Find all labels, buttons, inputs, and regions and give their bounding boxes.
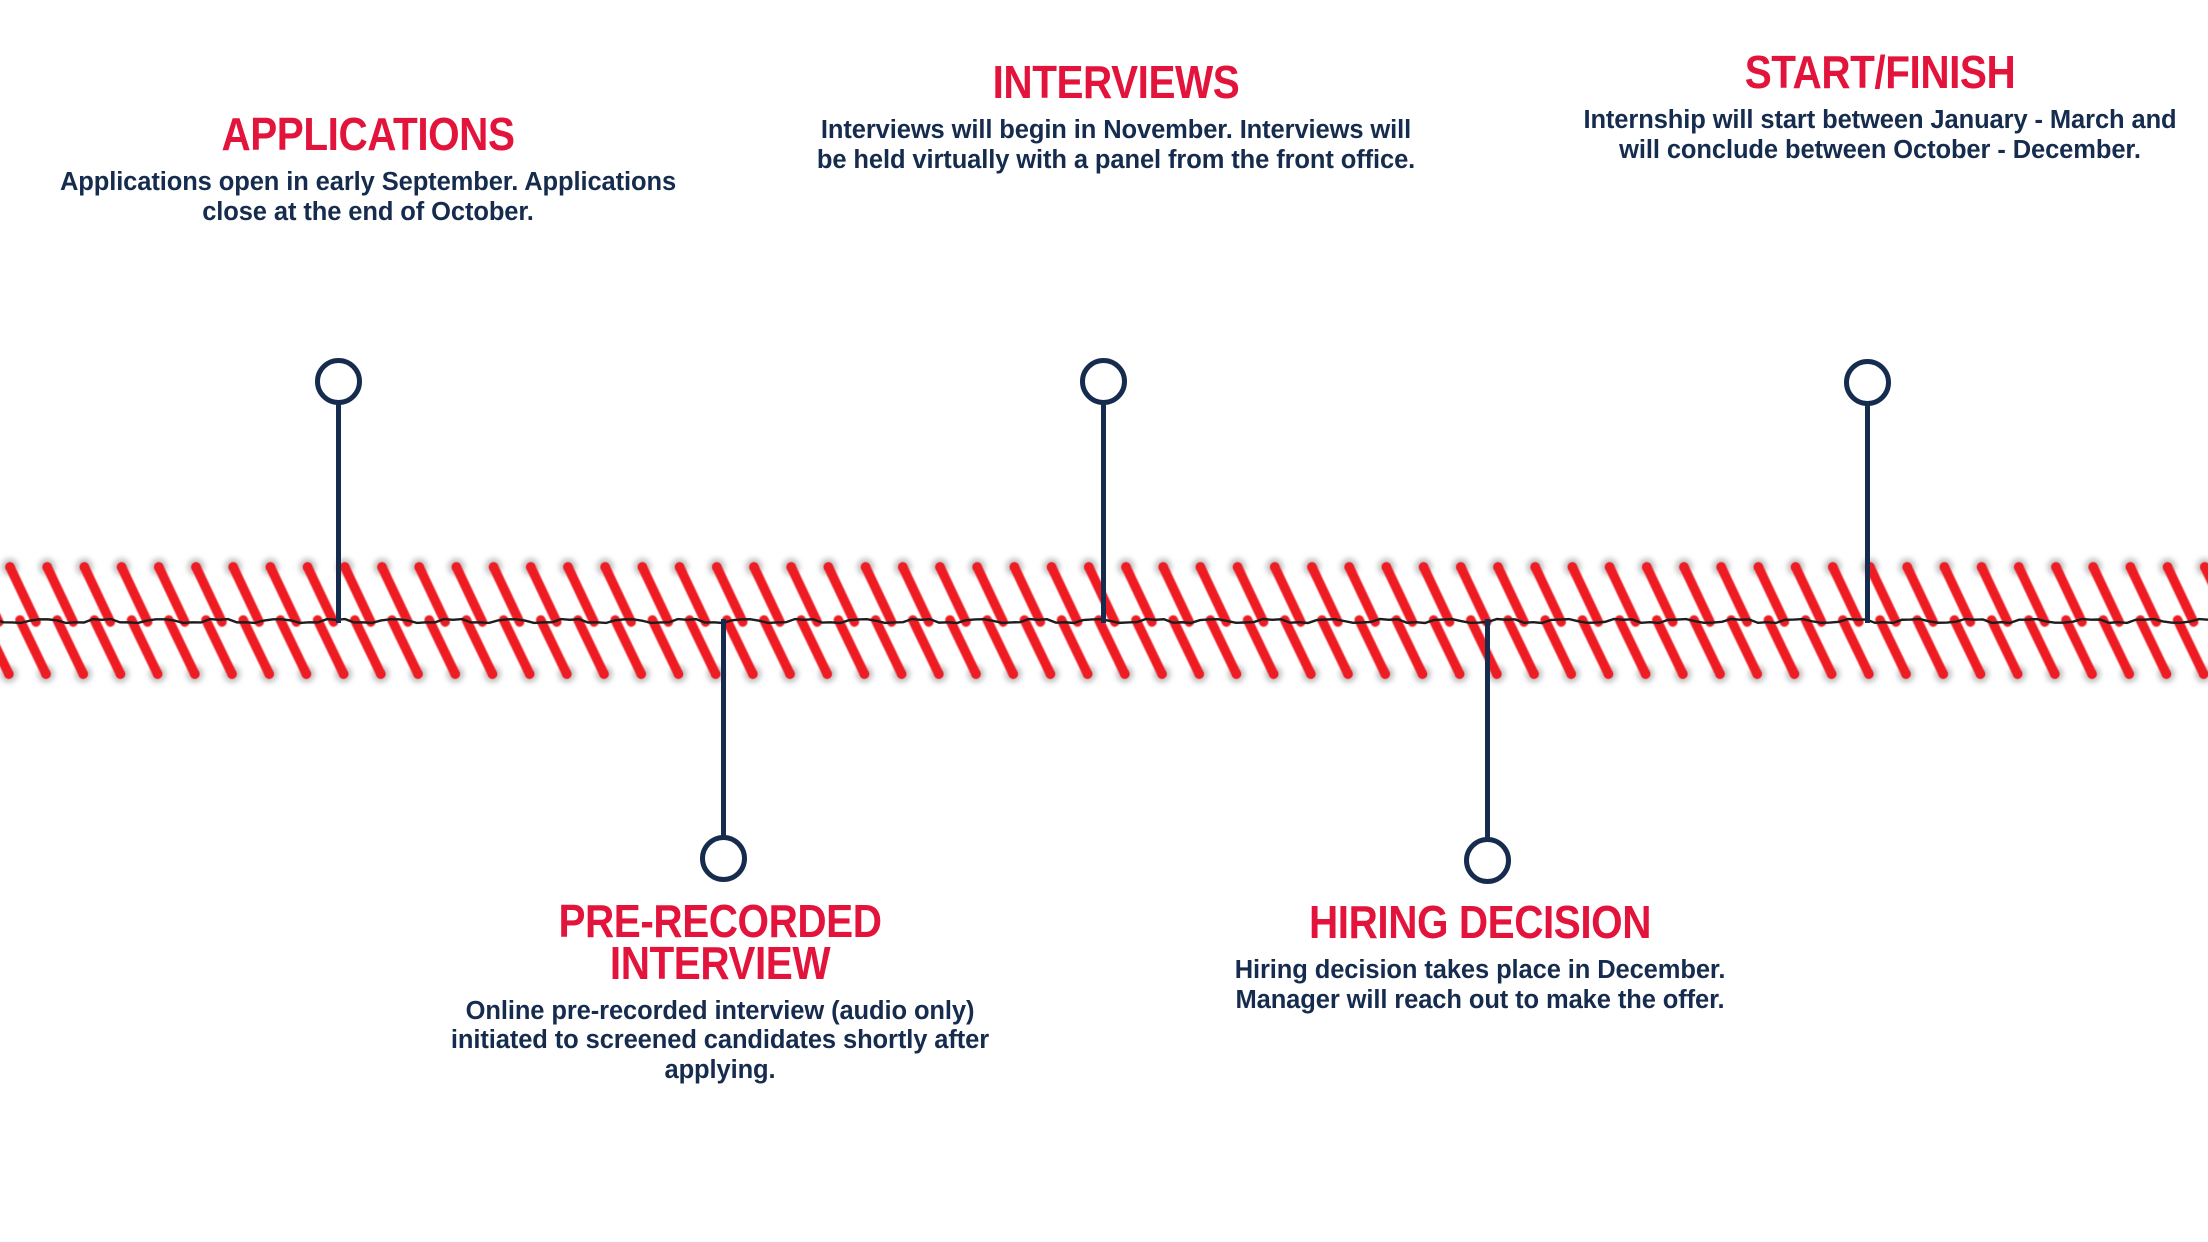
milestone-label-interviews: INTERVIEWS Interviews will begin in Nove… [816, 60, 1416, 175]
milestone-label-applications: APPLICATIONS Applications open in early … [48, 112, 688, 227]
milestone-circle-icon-hiring-decision [1464, 837, 1511, 884]
milestone-body-start-finish: Internship will start between January - … [1580, 106, 2180, 165]
milestone-title-pre-recorded-interview: PRE-RECORDED INTERVIEW [456, 900, 984, 985]
timeline-infographic: APPLICATIONS Applications open in early … [0, 0, 2208, 1242]
milestone-circle-icon-start-finish [1844, 359, 1891, 406]
milestone-body-pre-recorded-interview: Online pre-recorded interview (audio onl… [420, 997, 1020, 1086]
milestone-circle-icon-applications [315, 358, 362, 405]
milestone-label-pre-recorded-interview: PRE-RECORDED INTERVIEW Online pre-record… [420, 900, 1020, 1085]
milestone-label-start-finish: START/FINISH Internship will start betwe… [1580, 50, 2180, 165]
milestone-stem-interviews [1101, 403, 1106, 624]
milestone-title-interviews: INTERVIEWS [852, 60, 1380, 104]
milestone-body-applications: Applications open in early September. Ap… [48, 168, 688, 227]
milestone-body-hiring-decision: Hiring decision takes place in December.… [1180, 956, 1780, 1015]
milestone-title-hiring-decision: HIRING DECISION [1216, 900, 1744, 944]
milestone-title-applications: APPLICATIONS [86, 112, 649, 156]
milestone-body-interviews: Interviews will begin in November. Inter… [816, 116, 1416, 175]
milestone-stem-applications [336, 403, 341, 624]
milestone-stem-start-finish [1865, 404, 1870, 624]
milestone-stem-hiring-decision [1485, 619, 1490, 841]
milestone-label-hiring-decision: HIRING DECISION Hiring decision takes pl… [1180, 900, 1780, 1015]
milestone-circle-icon-pre-recorded-interview [700, 835, 747, 882]
milestone-stem-pre-recorded-interview [721, 619, 726, 839]
milestone-circle-icon-interviews [1080, 358, 1127, 405]
milestone-title-start-finish: START/FINISH [1616, 50, 2144, 94]
